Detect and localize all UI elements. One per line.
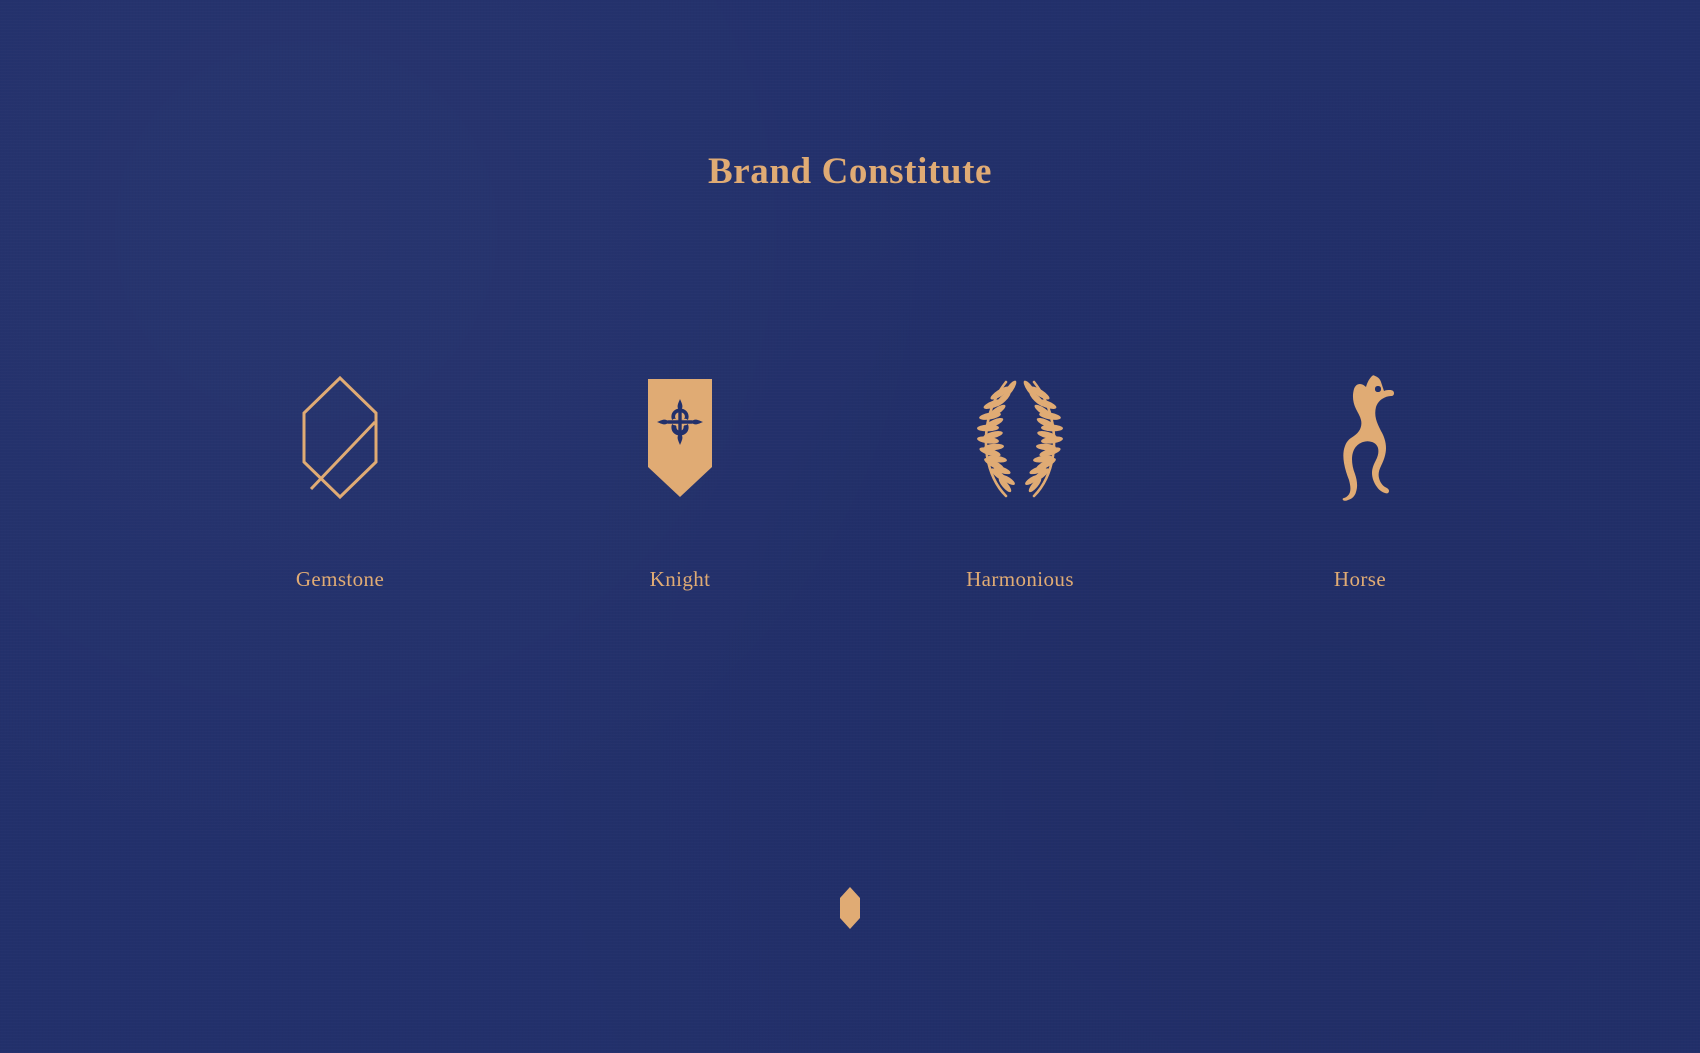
rearing-horse-icon [1320,370,1400,505]
brand-element-label: Harmonious [966,567,1074,592]
brand-element-label: Knight [650,567,711,592]
brand-element-label: Gemstone [296,567,384,592]
gemstone-solid-mark [838,886,862,930]
brand-constitute-slide: Brand Constitute Gemstone [0,0,1700,1053]
brand-element-harmonious[interactable]: Harmonious [890,370,1150,592]
footer-mark [0,886,1700,930]
brand-element-label: Horse [1334,567,1386,592]
laurel-wreath-icon [956,370,1084,505]
brand-element-knight[interactable]: Knight [550,370,810,592]
brand-element-horse[interactable]: Horse [1230,370,1490,592]
brand-element-row: Gemstone [210,370,1490,592]
page-title: Brand Constitute [0,150,1700,193]
knight-banner-icon [644,370,716,505]
gemstone-outline-icon [301,370,379,505]
brand-element-gemstone[interactable]: Gemstone [210,370,470,592]
